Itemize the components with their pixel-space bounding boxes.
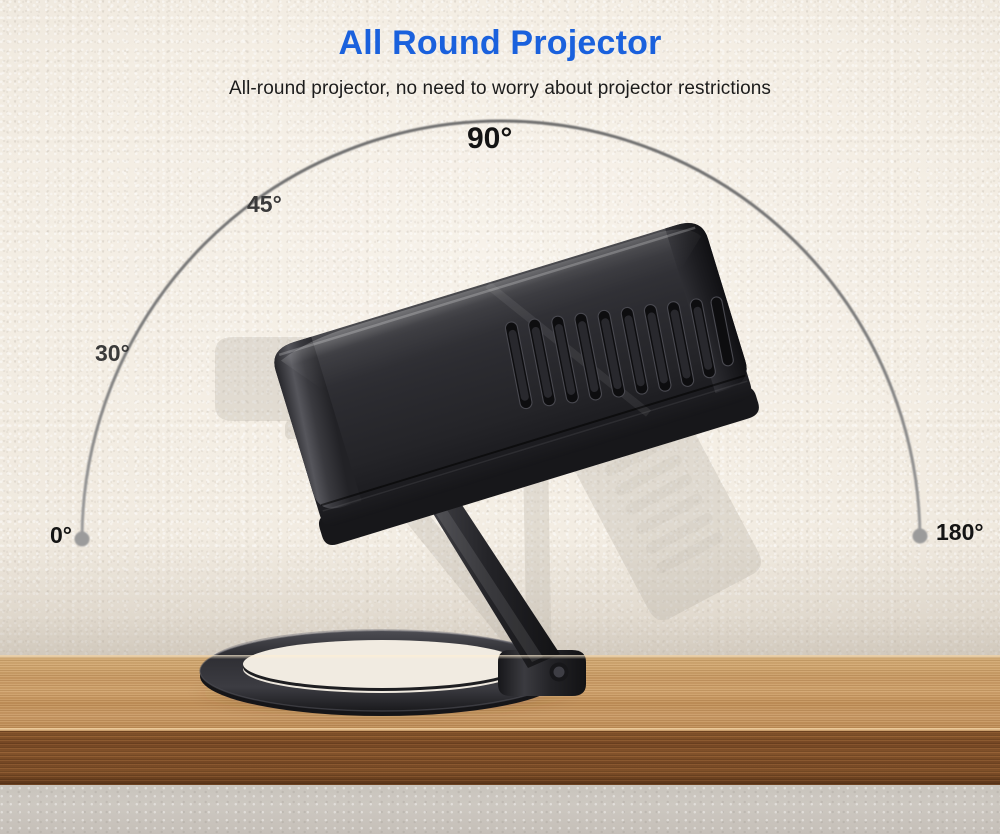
page-subtitle: All-round projector, no need to worry ab… xyxy=(0,78,1000,100)
angle-label-0: 0° xyxy=(50,522,72,549)
angle-label-90: 90° xyxy=(467,122,512,156)
angle-label-30: 30° xyxy=(95,340,130,367)
angle-label-45: 45° xyxy=(247,191,282,218)
page-title: All Round Projector xyxy=(0,24,1000,63)
product-scene: All Round Projector All-round projector,… xyxy=(0,0,1000,834)
angle-label-180: 180° xyxy=(936,519,984,546)
